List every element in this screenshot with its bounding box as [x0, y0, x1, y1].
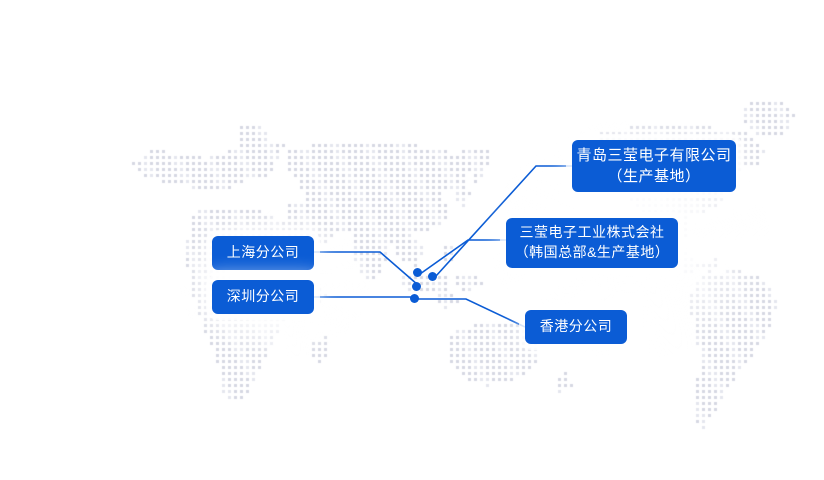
- label-qingdao-line2: （生产基地）: [607, 166, 700, 187]
- marker-hongkong[interactable]: [410, 294, 419, 303]
- label-hongkong-line1: 香港分公司: [540, 317, 613, 337]
- label-qingdao[interactable]: 青岛三莹电子有限公司 （生产基地）: [572, 140, 736, 192]
- label-korea-hq[interactable]: 三莹电子工业株式会社 （韩国总部&生产基地）: [506, 218, 678, 268]
- label-shenzhen-line1: 深圳分公司: [227, 287, 300, 307]
- connector-shanghai: [314, 252, 418, 285]
- connector-korea: [420, 240, 506, 274]
- label-shanghai-branch[interactable]: 上海分公司: [212, 236, 314, 270]
- label-qingdao-line1: 青岛三莹电子有限公司: [576, 145, 731, 166]
- marker-qingdao[interactable]: [428, 272, 437, 281]
- label-korea-line2: （韩国总部&生产基地）: [515, 243, 670, 263]
- marker-korea[interactable]: [413, 268, 422, 277]
- label-korea-line1: 三莹电子工业株式会社: [520, 223, 665, 243]
- marker-shanghai[interactable]: [412, 282, 421, 291]
- world-map-infographic: 青岛三莹电子有限公司 （生产基地） 三莹电子工业株式会社 （韩国总部&生产基地）…: [0, 0, 824, 480]
- connector-lines: [0, 0, 824, 480]
- connector-hongkong: [415, 299, 525, 327]
- label-shanghai-line1: 上海分公司: [227, 243, 300, 263]
- label-shenzhen-branch[interactable]: 深圳分公司: [212, 280, 314, 314]
- label-hongkong-branch[interactable]: 香港分公司: [525, 310, 627, 344]
